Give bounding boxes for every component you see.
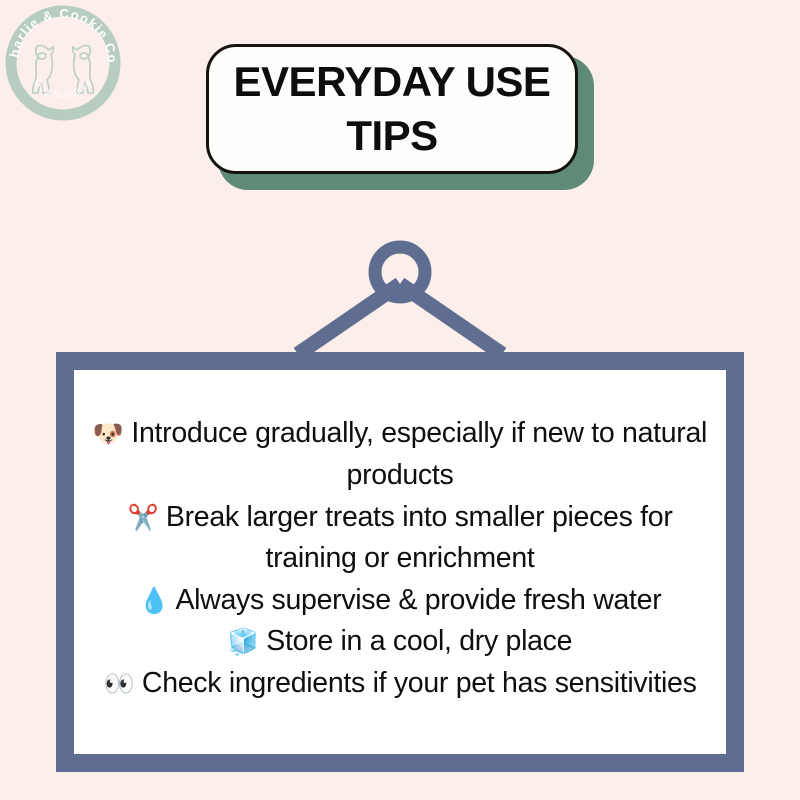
list-item: 🧊 Store in a cool, dry place — [86, 621, 714, 663]
brand-name: Charlie & Cookie Co. — [2, 2, 120, 64]
scissors-icon: ✂️ — [127, 503, 158, 532]
hanger-hook-icon — [280, 232, 520, 362]
ice-cube-icon: 🧊 — [228, 627, 259, 656]
list-item: 💧 Always supervise & provide fresh water — [86, 580, 714, 622]
list-item: 🐶 Introduce gradually, especially if new… — [86, 413, 714, 496]
list-item: ✂️ Break larger treats into smaller piec… — [86, 497, 714, 580]
eyes-icon: 👀 — [103, 669, 134, 698]
tip-text: Introduce gradually, especially if new t… — [131, 417, 707, 491]
sign-board: 🐶 Introduce gradually, especially if new… — [56, 352, 744, 772]
tip-text: Break larger treats into smaller pieces … — [166, 501, 673, 575]
list-item: 👀 Check ingredients if your pet has sens… — [86, 663, 714, 705]
tip-text: Check ingredients if your pet has sensit… — [142, 667, 697, 699]
title-banner: EVERYDAY USE TIPS — [206, 44, 578, 174]
tip-text: Always supervise & provide fresh water — [175, 584, 661, 616]
brand-tagline: Dog Supplies — [31, 77, 94, 101]
dog-face-icon: 🐶 — [93, 419, 124, 448]
tips-list: 🐶 Introduce gradually, especially if new… — [86, 413, 714, 704]
brand-logo: Charlie & Cookie Co. Dog Supplies — [2, 2, 124, 124]
page-title: EVERYDAY USE TIPS — [220, 55, 565, 163]
water-droplet-icon: 💧 — [139, 586, 170, 615]
title-banner-group: EVERYDAY USE TIPS — [206, 44, 596, 190]
infographic-canvas: Charlie & Cookie Co. Dog Supplies EVERYD… — [0, 0, 800, 800]
sign-inner-panel: 🐶 Introduce gradually, especially if new… — [74, 370, 726, 754]
tip-text: Store in a cool, dry place — [266, 625, 572, 657]
